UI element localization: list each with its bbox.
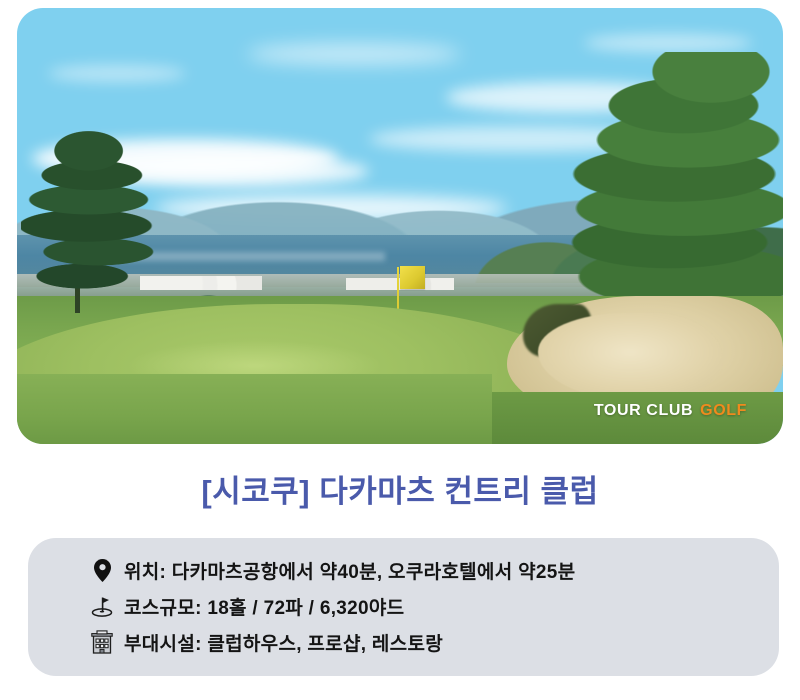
course-details-panel: 위치: 다카마츠공항에서 약40분, 오쿠라호텔에서 약25분 코스규모: 18… (28, 538, 779, 676)
cloud (48, 65, 186, 82)
pine-tree-right (569, 52, 783, 296)
watermark: TOUR CLUBGOLF (594, 403, 747, 419)
cloud (247, 43, 461, 65)
golf-course-info-card: TOUR CLUBGOLF [시코쿠] 다카마츠 컨트리 클럽 위치: 다카마츠… (0, 0, 800, 700)
detail-text-facilities: 부대시설: 클럽하우스, 프로샵, 레스토랑 (124, 629, 443, 656)
foreground-grass (17, 374, 492, 444)
location-pin-icon (90, 557, 114, 583)
watermark-brand: TOUR CLUB (594, 402, 693, 419)
course-details-list: 위치: 다카마츠공항에서 약40분, 오쿠라호텔에서 약25분 코스규모: 18… (90, 552, 759, 660)
detail-text-location: 위치: 다카마츠공항에서 약40분, 오쿠라호텔에서 약25분 (124, 557, 575, 584)
pine-tree-left (21, 130, 182, 304)
detail-row-facilities: 부대시설: 클럽하우스, 프로샵, 레스토랑 (90, 624, 759, 660)
hotel-building-icon (90, 629, 114, 655)
watermark-accent: GOLF (700, 402, 747, 419)
cloud (584, 34, 753, 51)
detail-text-course-size: 코스규모: 18홀 / 72파 / 6,320야드 (124, 593, 404, 620)
course-photo: TOUR CLUBGOLF (17, 8, 783, 444)
detail-row-location: 위치: 다카마츠공항에서 약40분, 오쿠라호텔에서 약25분 (90, 552, 759, 588)
golf-flag-icon (90, 593, 114, 619)
detail-row-course-size: 코스규모: 18홀 / 72파 / 6,320야드 (90, 588, 759, 624)
golf-flag (400, 266, 425, 289)
page-title: [시코쿠] 다카마츠 컨트리 클럽 (0, 466, 800, 511)
